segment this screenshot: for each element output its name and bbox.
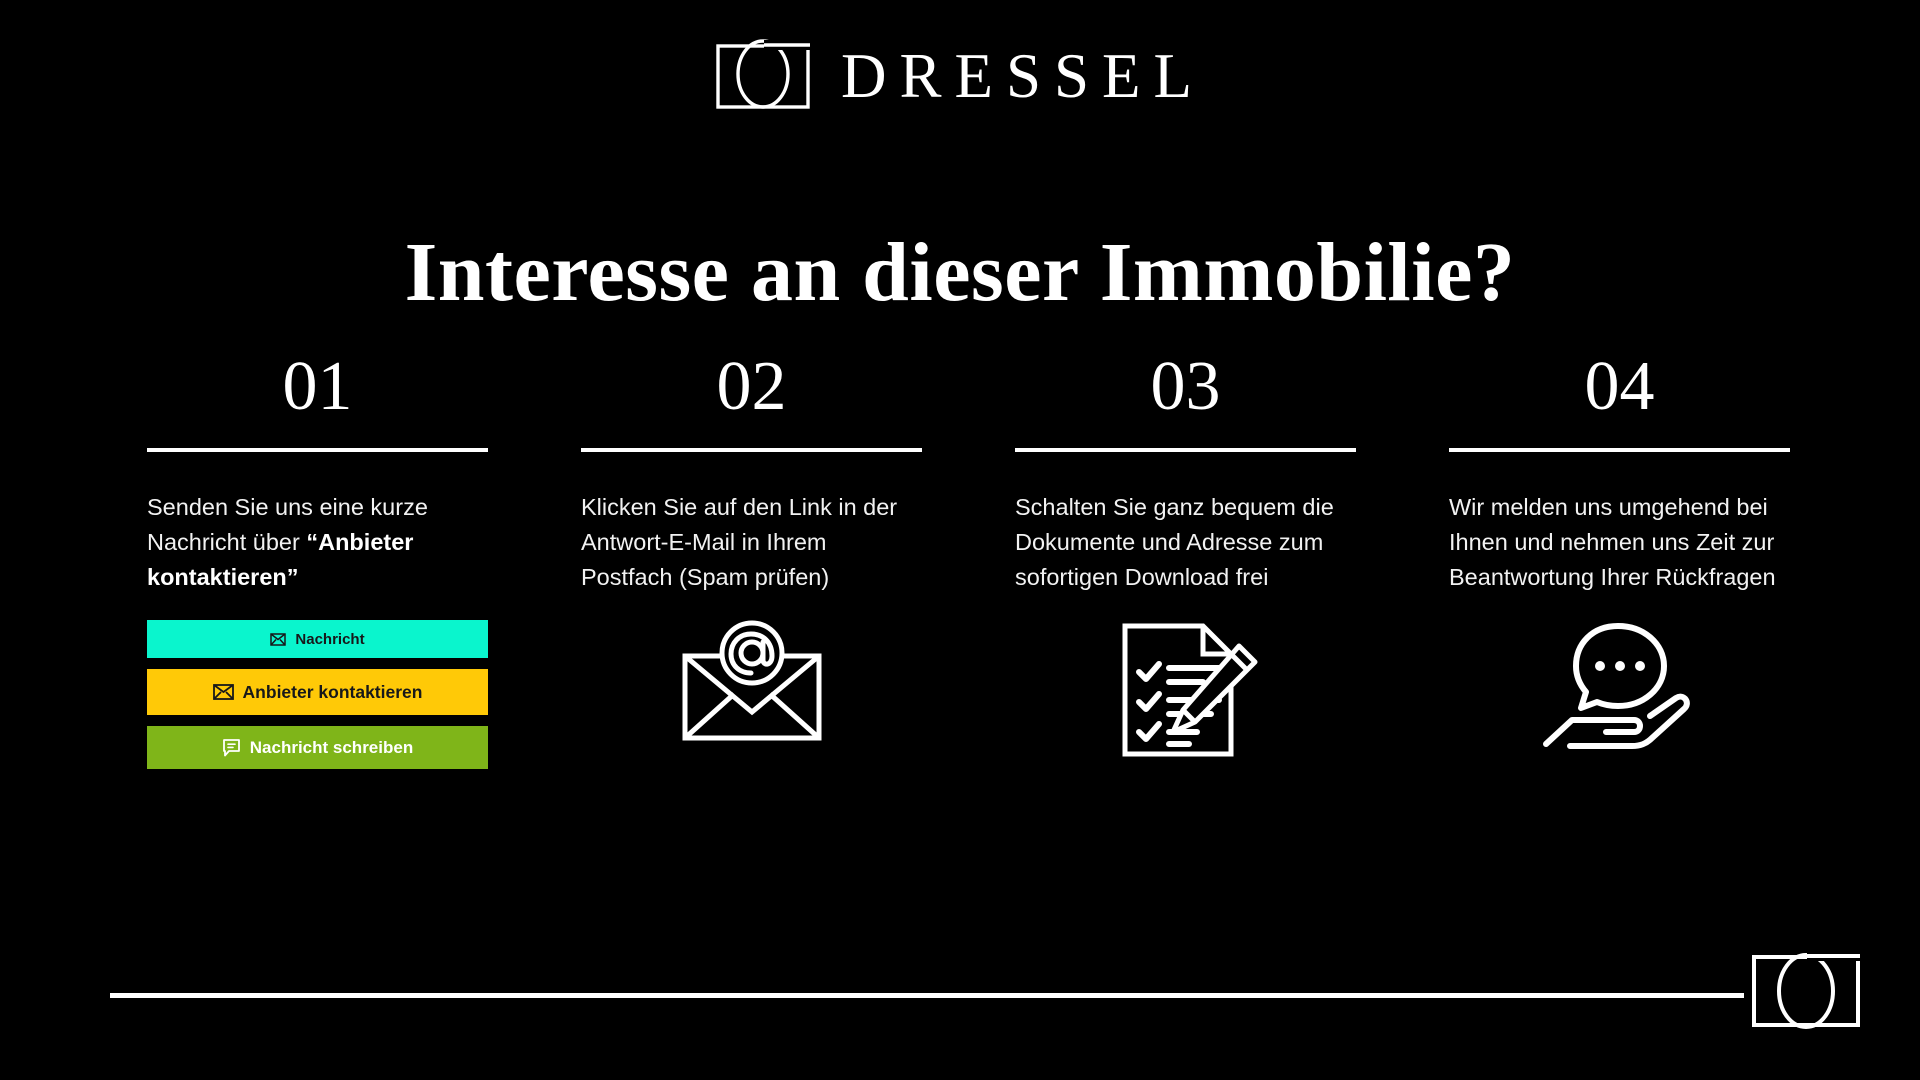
dressel-monogram-icon [1750,947,1862,1036]
anbieter-kontaktieren-button[interactable]: Anbieter kontaktieren [147,669,488,715]
step-description: Senden Sie uns eine kurze Nachricht über… [147,490,488,594]
anbieter-kontaktieren-button-label: Anbieter kontaktieren [243,682,423,703]
step-number: 04 [1449,352,1790,430]
envelope-icon [213,684,234,700]
step-01: 01 Senden Sie uns eine kurze Nachricht ü… [147,352,488,790]
step-04: 04 Wir melden uns umgehend bei Ihnen und… [1449,352,1790,790]
checklist-pencil-icon [1111,620,1261,765]
step-description: Klicken Sie auf den Link in der Antwort-… [581,490,922,594]
step-number: 02 [581,352,922,430]
email-at-icon [677,620,827,753]
step-divider [581,448,922,452]
step-description: Wir melden uns umgehend bei Ihnen und ne… [1449,490,1790,594]
nachricht-button-label: Nachricht [295,631,364,648]
message-lines-icon [222,739,241,757]
steps-container: 01 Senden Sie uns eine kurze Nachricht ü… [147,352,1807,790]
step-visual: Nachricht Anbieter kontaktieren [147,620,488,790]
step-02: 02 Klicken Sie auf den Link in der Antwo… [581,352,922,790]
step-divider [1449,448,1790,452]
speech-bubble-hand-icon [1540,620,1700,757]
brand-header: DRESSEL [0,38,1920,115]
dressel-monogram-icon [715,38,811,115]
step-visual [1449,620,1790,790]
step-03: 03 Schalten Sie ganz bequem die Dokument… [1015,352,1356,790]
step-visual [1015,620,1356,790]
nachricht-button[interactable]: Nachricht [147,620,488,658]
page-title: Interesse an dieser Immobilie? [0,228,1920,317]
step-number: 03 [1015,352,1356,430]
button-stack: Nachricht Anbieter kontaktieren [147,620,488,769]
envelope-icon [270,633,286,646]
step-description: Schalten Sie ganz bequem die Dokumente u… [1015,490,1356,594]
nachricht-schreiben-button-label: Nachricht schreiben [250,738,413,758]
nachricht-schreiben-button[interactable]: Nachricht schreiben [147,726,488,769]
step-divider [147,448,488,452]
step-number: 01 [147,352,488,430]
brand-wordmark: DRESSEL [837,45,1205,108]
footer-divider [110,993,1744,998]
step-divider [1015,448,1356,452]
footer [0,930,1920,1080]
step-visual [581,620,922,790]
